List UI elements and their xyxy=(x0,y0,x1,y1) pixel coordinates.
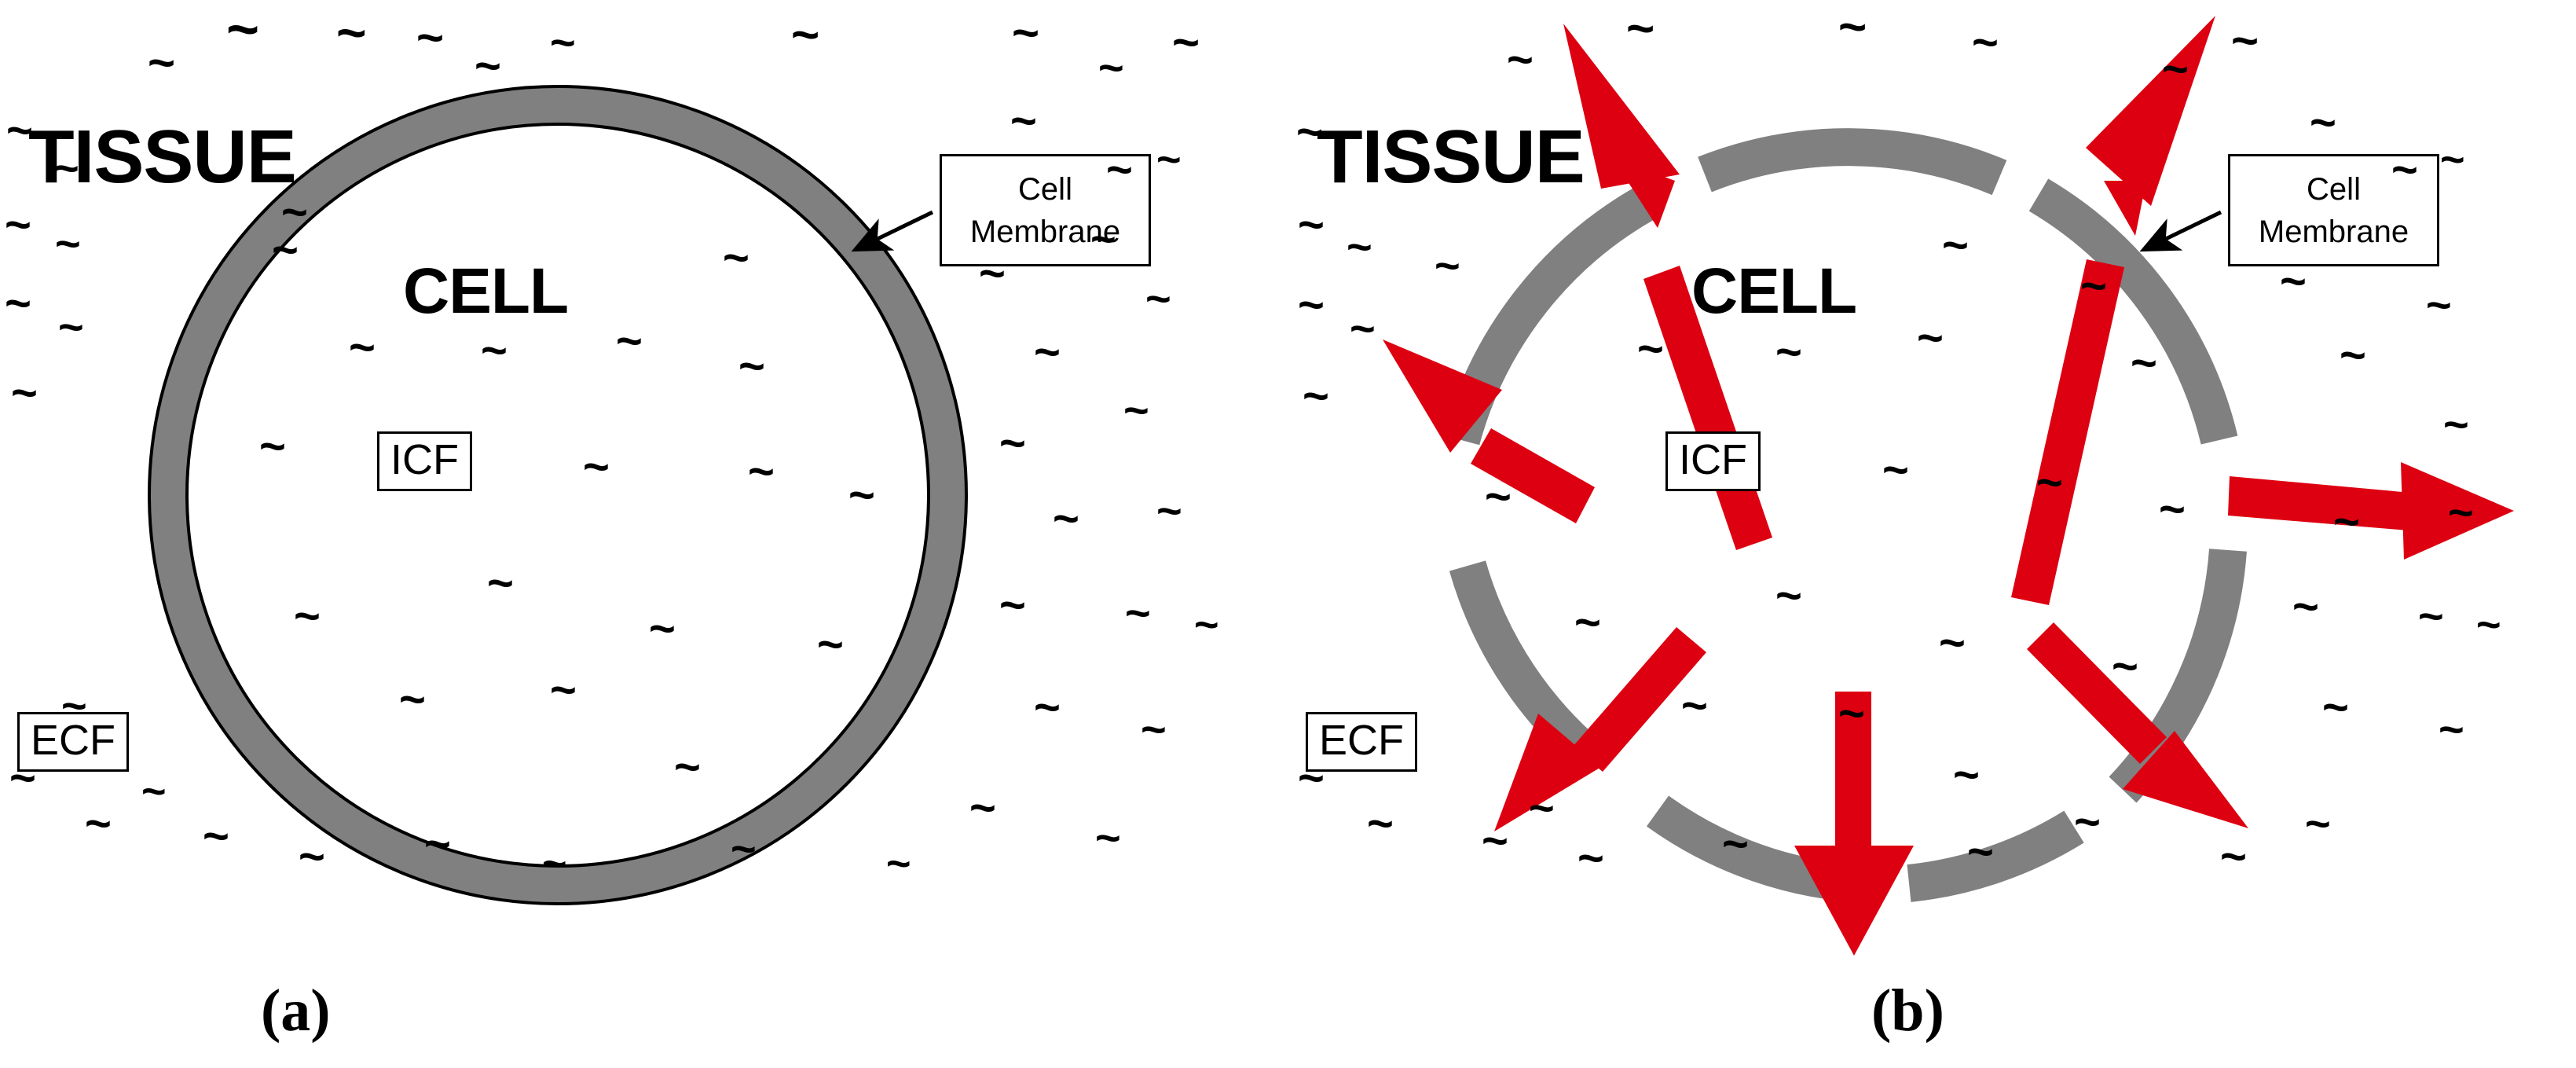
solute-glyph: ~ xyxy=(979,251,1006,297)
solute-glyph: ~ xyxy=(1529,786,1555,830)
solute-glyph: ~ xyxy=(2322,685,2349,731)
solute-glyph: ~ xyxy=(2162,47,2189,93)
solute-glyph: ~ xyxy=(1034,330,1061,376)
solute-glyph: ~ xyxy=(141,770,167,813)
solute-glyph: ~ xyxy=(1053,497,1079,542)
panel-b-caption: (b) xyxy=(1871,981,1944,1040)
solute-glyph: ~ xyxy=(1681,684,1708,729)
cell-label: CELL xyxy=(403,259,568,324)
solute-glyph: ~ xyxy=(9,756,36,802)
solute-glyph: ~ xyxy=(723,236,749,281)
solute-glyph: ~ xyxy=(11,371,38,417)
solute-glyph: ~ xyxy=(1577,836,1604,882)
solute-glyph: ~ xyxy=(1125,591,1151,635)
solute-glyph: ~ xyxy=(817,622,844,668)
solute-glyph: ~ xyxy=(1775,574,1802,619)
solute-glyph: ~ xyxy=(1090,217,1116,261)
solute-glyph: ~ xyxy=(1917,316,1944,362)
cell-label: CELL xyxy=(1691,259,1856,324)
solute-glyph: ~ xyxy=(1156,489,1182,533)
solute-glyph: ~ xyxy=(281,190,308,236)
solute-glyph: ~ xyxy=(299,835,325,880)
solute-glyph: ~ xyxy=(886,842,911,885)
solute-glyph: ~ xyxy=(1350,306,1376,350)
solute-glyph: ~ xyxy=(399,677,426,723)
solute-glyph: ~ xyxy=(487,561,514,607)
solute-glyph: ~ xyxy=(1882,448,1909,494)
solute-glyph: ~ xyxy=(616,319,643,365)
solute-glyph: ~ xyxy=(58,305,84,349)
solute-glyph: ~ xyxy=(1298,283,1325,328)
solute-glyph: ~ xyxy=(2418,594,2444,638)
solute-glyph: ~ xyxy=(2131,341,2157,387)
solute-glyph: ~ xyxy=(424,822,451,868)
figure-root: TISSUE CELL ICF ECF Cell Membrane ~ ~ ~ … xyxy=(0,0,2576,1068)
solute-glyph: ~ xyxy=(2292,585,2319,630)
solute-glyph: ~ xyxy=(1095,816,1121,860)
solute-glyph: ~ xyxy=(2080,264,2107,310)
solute-glyph: ~ xyxy=(1953,753,1980,798)
solute-glyph: ~ xyxy=(1722,822,1749,868)
solute-glyph: ~ xyxy=(1626,5,1654,53)
solute-glyph: ~ xyxy=(738,344,765,390)
solute-glyph: ~ xyxy=(969,786,996,831)
solute-glyph: ~ xyxy=(1838,3,1867,52)
solute-glyph: ~ xyxy=(674,745,701,791)
solute-glyph: ~ xyxy=(1775,330,1802,376)
solute-glyph: ~ xyxy=(55,222,81,266)
solute-glyph: ~ xyxy=(475,44,501,90)
panel-b: TISSUE CELL ICF ECF Cell Membrane ~ ~ ~ … xyxy=(1288,0,2576,1068)
solute-glyph: ~ xyxy=(1637,327,1664,373)
icf-label-box: ICF xyxy=(1665,431,1761,491)
solute-glyph: ~ xyxy=(53,146,79,190)
solute-glyph: ~ xyxy=(2440,138,2465,181)
solute-glyph: ~ xyxy=(1145,277,1171,321)
callout-line-1: Cell xyxy=(2307,168,2361,211)
solute-glyph: ~ xyxy=(203,814,229,860)
solute-glyph: ~ xyxy=(2439,707,2464,751)
solute-glyph: ~ xyxy=(848,473,875,519)
solute-glyph: ~ xyxy=(791,11,819,60)
solute-glyph: ~ xyxy=(1939,621,1966,666)
solute-glyph: ~ xyxy=(1010,99,1037,145)
solute-glyph: ~ xyxy=(2340,333,2366,379)
solute-glyph: ~ xyxy=(731,827,757,871)
solute-glyph: ~ xyxy=(2074,800,2101,846)
solute-glyph: ~ xyxy=(5,281,31,327)
callout-line-2: Membrane xyxy=(2259,211,2409,253)
solute-glyph: ~ xyxy=(1967,830,1994,875)
solute-glyph: ~ xyxy=(148,39,175,86)
icf-label-box: ICF xyxy=(377,431,472,491)
panel-a-caption: (a) xyxy=(261,981,331,1040)
solute-glyph: ~ xyxy=(1435,244,1460,288)
solute-glyph: ~ xyxy=(1141,707,1167,751)
solute-glyph: ~ xyxy=(1098,46,1124,90)
solute-glyph: ~ xyxy=(1296,110,1323,156)
solute-glyph: ~ xyxy=(1012,9,1039,57)
solute-glyph: ~ xyxy=(1298,756,1325,802)
solute-glyph: ~ xyxy=(61,684,87,728)
callout-line-1: Cell xyxy=(1018,168,1072,211)
solute-glyph: ~ xyxy=(416,14,444,61)
solute-glyph: ~ xyxy=(2391,148,2418,193)
solute-glyph: ~ xyxy=(259,424,286,470)
cell-membrane-callout-leader xyxy=(2143,212,2221,250)
solute-glyph: ~ xyxy=(1303,374,1329,420)
solute-glyph: ~ xyxy=(748,450,775,495)
solute-glyph: ~ xyxy=(6,108,33,154)
solute-glyph: ~ xyxy=(2476,604,2501,646)
solute-glyph: ~ xyxy=(1156,138,1182,181)
solute-glyph: ~ xyxy=(583,445,610,490)
solute-glyph: ~ xyxy=(2220,835,2247,880)
solute-glyph: ~ xyxy=(5,203,31,248)
solute-glyph: ~ xyxy=(1507,38,1534,83)
solute-glyph: ~ xyxy=(1574,600,1601,646)
solute-glyph: ~ xyxy=(550,668,577,714)
solute-glyph: ~ xyxy=(2280,259,2307,305)
solute-glyph: ~ xyxy=(481,328,508,374)
solute-glyph: ~ xyxy=(2443,402,2469,446)
solute-glyph: ~ xyxy=(1972,20,1999,66)
membrane-segment xyxy=(1705,147,1999,178)
solute-glyph: ~ xyxy=(1347,225,1372,269)
solute-glyph: ~ xyxy=(226,2,259,58)
tissue-label: TISSUE xyxy=(1317,119,1585,195)
solute-glyph: ~ xyxy=(2305,802,2331,846)
solute-glyph: ~ xyxy=(1123,388,1149,432)
solute-glyph: ~ xyxy=(336,6,367,58)
solute-glyph: ~ xyxy=(2448,490,2474,534)
solute-glyph: ~ xyxy=(2231,17,2259,64)
solute-glyph: ~ xyxy=(2310,101,2336,146)
solute-glyph: ~ xyxy=(1298,203,1325,248)
solute-glyph: ~ xyxy=(649,607,676,652)
solute-glyph: ~ xyxy=(550,20,576,64)
solute-glyph: ~ xyxy=(999,583,1026,629)
solute-glyph: ~ xyxy=(2333,500,2360,545)
solute-glyph: ~ xyxy=(1367,802,1394,847)
solute-glyph: ~ xyxy=(2159,487,2186,533)
solute-glyph: ~ xyxy=(542,842,567,885)
solute-glyph: ~ xyxy=(2112,644,2138,690)
solute-glyph: ~ xyxy=(1172,19,1200,66)
solute-glyph: ~ xyxy=(1482,819,1508,864)
solute-glyph: ~ xyxy=(999,421,1026,467)
solute-glyph: ~ xyxy=(1838,692,1865,737)
solute-glyph: ~ xyxy=(294,594,321,640)
solute-glyph: ~ xyxy=(1942,223,1969,269)
solute-glyph: ~ xyxy=(2036,461,2063,506)
solute-glyph: ~ xyxy=(1485,475,1512,520)
solute-glyph: ~ xyxy=(1194,604,1219,646)
solute-glyph: ~ xyxy=(2426,283,2452,327)
membrane-segment xyxy=(1468,566,1579,747)
panel-a: TISSUE CELL ICF ECF Cell Membrane ~ ~ ~ … xyxy=(0,0,1288,1068)
solute-glyph: ~ xyxy=(85,802,112,847)
solute-glyph: ~ xyxy=(1106,148,1133,193)
solute-glyph: ~ xyxy=(1034,685,1061,731)
solute-glyph: ~ xyxy=(349,325,376,371)
